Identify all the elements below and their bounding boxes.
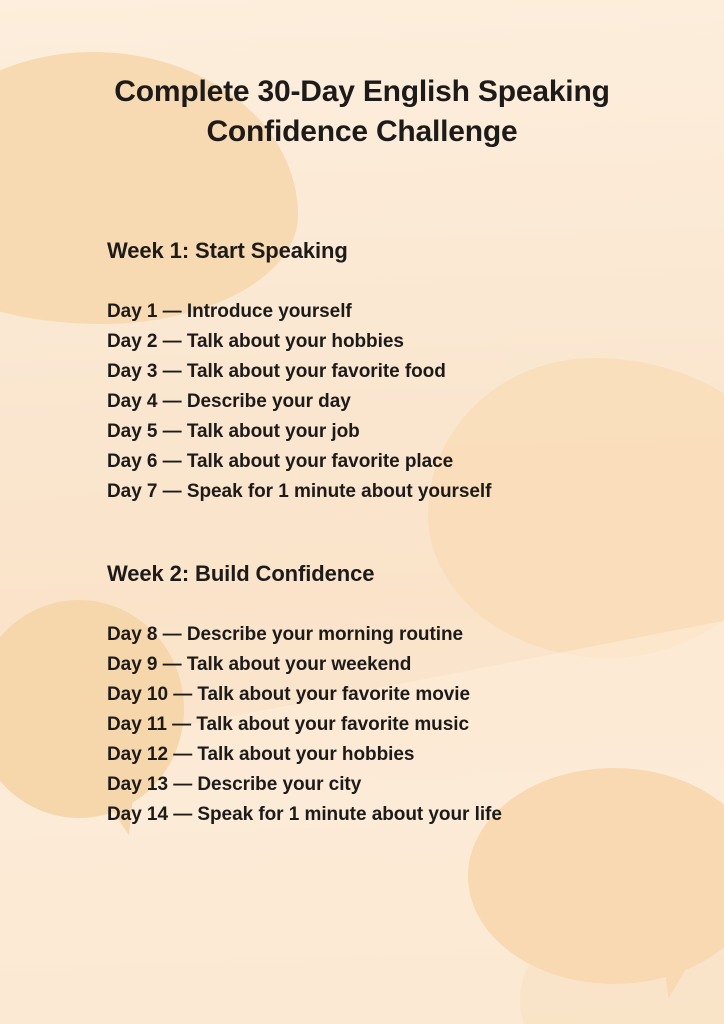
list-item: Day 13 — Describe your city [107, 770, 667, 800]
page-title: Complete 30-Day English Speaking Confide… [62, 72, 662, 152]
list-item: Day 8 — Describe your morning routine [107, 620, 667, 650]
list-item: Day 6 — Talk about your favorite place [107, 447, 667, 477]
list-item: Day 10 — Talk about your favorite movie [107, 680, 667, 710]
week-section-2: Week 2: Build Confidence Day 8 — Describ… [107, 559, 667, 830]
week-section-1: Week 1: Start Speaking Day 1 — Introduce… [107, 236, 667, 507]
list-item: Day 9 — Talk about your weekend [107, 650, 667, 680]
list-item: Day 14 — Speak for 1 minute about your l… [107, 800, 667, 830]
list-item: Day 12 — Talk about your hobbies [107, 740, 667, 770]
poster-content: Complete 30-Day English Speaking Confide… [0, 0, 724, 1024]
list-item: Day 2 — Talk about your hobbies [107, 327, 667, 357]
list-item: Day 5 — Talk about your job [107, 417, 667, 447]
week-2-heading: Week 2: Build Confidence [107, 559, 667, 589]
list-item: Day 4 — Describe your day [107, 387, 667, 417]
week-1-heading: Week 1: Start Speaking [107, 236, 667, 266]
list-item: Day 1 — Introduce yourself [107, 297, 667, 327]
week-sections: Week 1: Start Speaking Day 1 — Introduce… [107, 236, 667, 830]
poster-canvas: Complete 30-Day English Speaking Confide… [0, 0, 724, 1024]
week-2-day-list: Day 8 — Describe your morning routine Da… [107, 620, 667, 830]
list-item: Day 7 — Speak for 1 minute about yoursel… [107, 477, 667, 507]
week-1-day-list: Day 1 — Introduce yourself Day 2 — Talk … [107, 297, 667, 507]
list-item: Day 3 — Talk about your favorite food [107, 357, 667, 387]
list-item: Day 11 — Talk about your favorite music [107, 710, 667, 740]
